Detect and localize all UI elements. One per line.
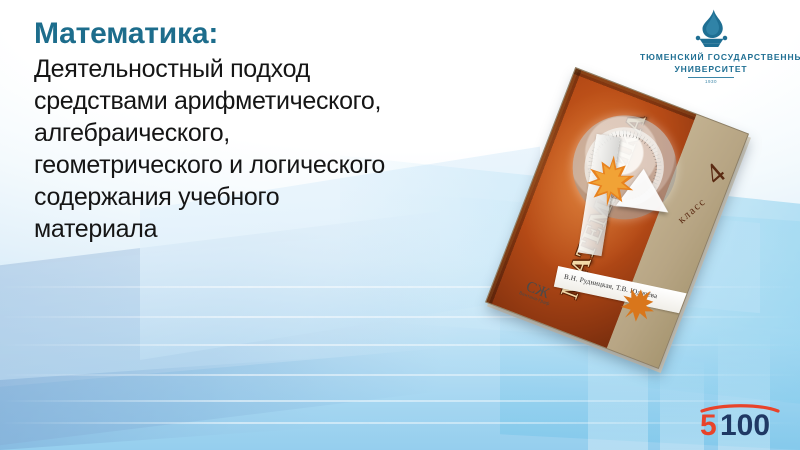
university-logo: ТЮМЕНСКИЙ ГОСУДАРСТВЕННЫЙ УНИВЕРСИТЕТ 19…	[640, 8, 782, 84]
project-5100-logo-graphic: 5 100	[696, 402, 782, 438]
slide-root: Математика: Деятельностный подход средст…	[0, 0, 800, 450]
body-line: материала	[34, 213, 534, 245]
flame-emblem-icon	[689, 8, 734, 50]
university-divider	[688, 77, 734, 78]
logo-digits-100: 100	[720, 409, 770, 438]
logo-digit-5: 5	[700, 409, 717, 438]
page-title: Математика:	[34, 16, 534, 52]
university-name-line2: УНИВЕРСИТЕТ	[640, 64, 782, 75]
slide-text-block: Математика: Деятельностный подход средст…	[34, 16, 534, 245]
body-line: содержания учебного	[34, 181, 534, 213]
project-5100-logo: 5 100	[696, 402, 782, 438]
maple-leaf-icon	[578, 149, 642, 213]
body-line: алгебраического,	[34, 117, 534, 149]
body-line: средствами арифметического,	[34, 85, 534, 117]
body-line: геометрического и логического	[34, 149, 534, 181]
body-line: Деятельностный подход	[34, 53, 534, 85]
textbook-image: МАТЕМАТИКА 4 класс В.Н. Рудницкая, Т.В. …	[516, 86, 746, 376]
university-year: 1930	[640, 79, 782, 84]
slide-body: Деятельностный подход средствами арифмет…	[34, 53, 534, 245]
university-name-line1: ТЮМЕНСКИЙ ГОСУДАРСТВЕННЫЙ	[640, 52, 782, 63]
